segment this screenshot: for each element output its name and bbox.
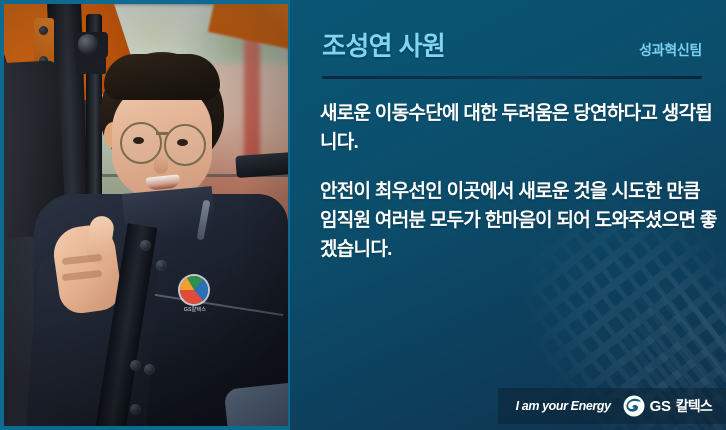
brand-caltex-text: 칼텍스 [676, 396, 712, 416]
photo-vignette [4, 4, 288, 426]
brand-gs-text: GS [650, 398, 671, 415]
testimonial-card: GS칼텍스 조성연 사원 성과혁신팀 새로운 이동수단에 대한 두려움은 당연하… [0, 0, 726, 430]
team-name: 성과혁신팀 [639, 40, 702, 62]
brand-footer: I am your Energy GS 칼텍스 [498, 388, 726, 424]
gs-swirl-icon [623, 395, 645, 417]
header-divider [322, 76, 702, 79]
employee-photo: GS칼텍스 [0, 0, 290, 430]
quote-body: 새로운 이동수단에 대한 두려움은 당연하다고 생각됩니다. 안전이 최우선인 … [320, 100, 720, 264]
quote-panel: 조성연 사원 성과혁신팀 새로운 이동수단에 대한 두려움은 당연하다고 생각됩… [290, 0, 726, 430]
quote-paragraph: 새로운 이동수단에 대한 두려움은 당연하다고 생각됩니다. [320, 100, 720, 158]
brand-tagline: I am your Energy [516, 399, 611, 413]
employee-photo-image: GS칼텍스 [4, 4, 288, 426]
gs-caltex-logo: GS 칼텍스 [623, 395, 712, 417]
quote-paragraph: 안전이 최우선인 이곳에서 새로운 것을 시도한 만큼 임직원 여러분 모두가 … [320, 178, 720, 265]
person-name: 조성연 사원 [322, 26, 445, 63]
quote-header: 조성연 사원 성과혁신팀 [322, 26, 702, 63]
